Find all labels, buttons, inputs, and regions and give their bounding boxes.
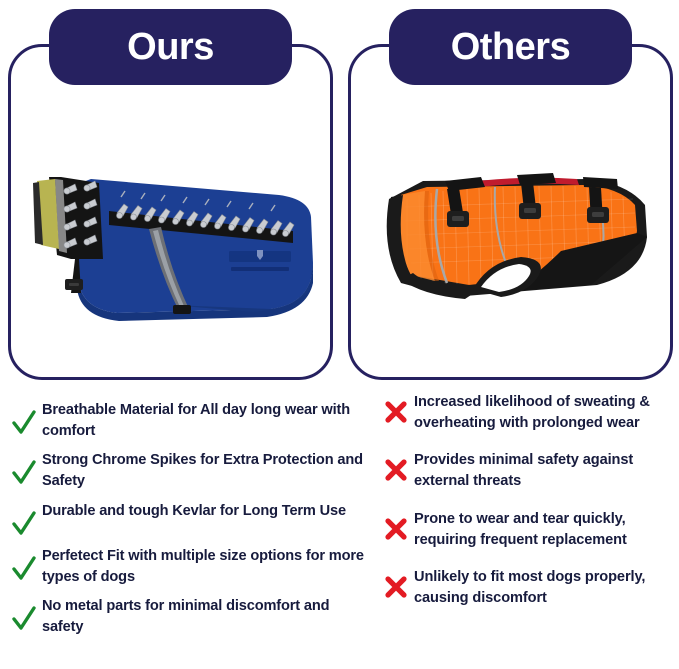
panel-title-ours: Ours: [127, 28, 214, 66]
pros-item-text: Breathable Material for All day long wea…: [42, 400, 370, 441]
cross-icon: [378, 509, 414, 541]
cons-item-text: Increased likelihood of sweating & overh…: [414, 392, 679, 433]
feature-lists: Breathable Material for All day long wea…: [0, 392, 679, 669]
panel-header-others: Others: [389, 9, 632, 85]
cons-item-text: Unlikely to fit most dogs properly, caus…: [414, 567, 679, 608]
panel-others: Others: [348, 44, 673, 380]
pros-item-text: Strong Chrome Spikes for Extra Protectio…: [42, 450, 370, 491]
panel-ours: Ours: [8, 44, 333, 380]
cross-icon: [378, 450, 414, 482]
pros-item-text: Durable and tough Kevlar for Long Term U…: [42, 501, 346, 522]
pros-item-text: Perfetect Fit with multiple size options…: [42, 546, 370, 587]
list-item: Breathable Material for All day long wea…: [6, 400, 370, 441]
check-icon: [6, 501, 42, 537]
check-icon: [6, 450, 42, 486]
list-item: No metal parts for minimal discomfort an…: [6, 596, 370, 637]
list-item: Prone to wear and tear quickly, requirin…: [378, 509, 679, 550]
list-item: Durable and tough Kevlar for Long Term U…: [6, 501, 370, 537]
list-item: Increased likelihood of sweating & overh…: [378, 392, 679, 433]
pros-list: Breathable Material for All day long wea…: [0, 392, 370, 669]
list-item: Perfetect Fit with multiple size options…: [6, 546, 370, 587]
pros-item-text: No metal parts for minimal discomfort an…: [42, 596, 370, 637]
blue-spiked-dog-vest-image: [21, 133, 321, 333]
orange-mesh-dog-vest-image: [361, 133, 661, 333]
brand-logo-mark: [229, 250, 291, 271]
panel-header-ours: Ours: [49, 9, 292, 85]
product-comparison-panels: Ours: [0, 0, 679, 382]
cross-icon: [378, 392, 414, 424]
panel-title-others: Others: [451, 28, 570, 66]
panel-body-others: [351, 89, 670, 377]
cross-icon: [378, 567, 414, 599]
list-item: Unlikely to fit most dogs properly, caus…: [378, 567, 679, 608]
check-icon: [6, 596, 42, 632]
check-icon: [6, 546, 42, 582]
comparison-infographic: Ours: [0, 0, 679, 669]
check-icon: [6, 400, 42, 436]
cons-item-text: Prone to wear and tear quickly, requirin…: [414, 509, 679, 550]
cons-list: Increased likelihood of sweating & overh…: [370, 392, 679, 669]
list-item: Provides minimal safety against external…: [378, 450, 679, 491]
list-item: Strong Chrome Spikes for Extra Protectio…: [6, 450, 370, 491]
panel-body-ours: [11, 89, 330, 377]
cons-item-text: Provides minimal safety against external…: [414, 450, 679, 491]
